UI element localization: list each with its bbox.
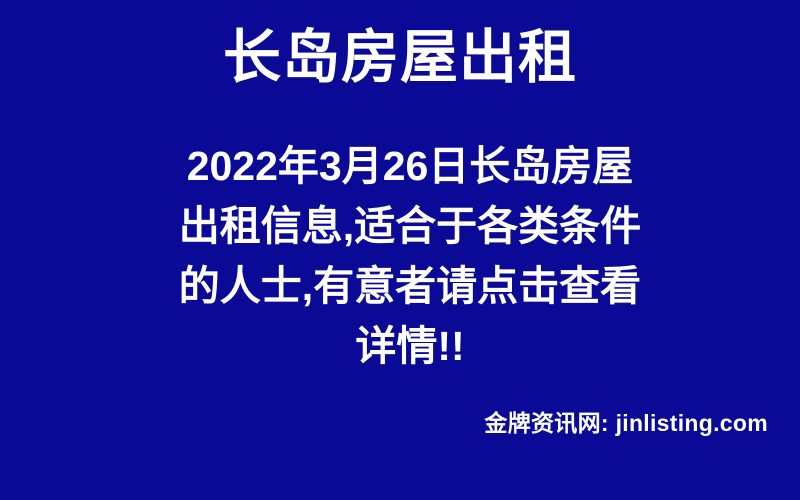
body-line: 2022年3月26日长岛房屋 [122,136,698,196]
body-line: 详情!! [122,316,698,376]
site-name-label: 金牌资讯网: [484,410,608,436]
site-url-label: jinlisting.com [616,410,768,436]
body-line: 的人士,有意者请点击查看 [122,256,698,316]
body-text-block: 2022年3月26日长岛房屋 出租信息,适合于各类条件 的人士,有意者请点击查看… [122,136,698,376]
page-title: 长岛房屋出租 [0,26,800,91]
poster-canvas: 长岛房屋出租 2022年3月26日长岛房屋 出租信息,适合于各类条件 的人士,有… [0,0,800,500]
footer-watermark: 金牌资讯网: jinlisting.com [484,404,768,438]
body-line: 出租信息,适合于各类条件 [122,196,698,256]
